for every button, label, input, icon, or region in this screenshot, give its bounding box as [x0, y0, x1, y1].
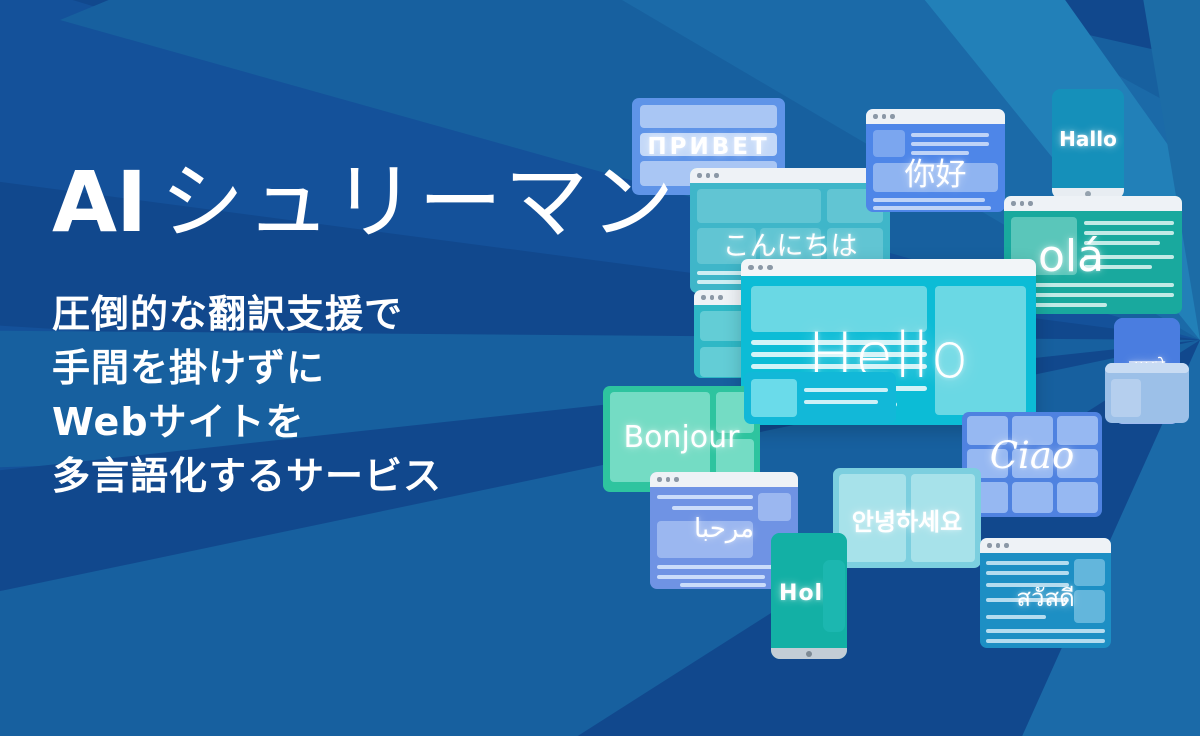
card-nihao: 你好 — [866, 109, 1005, 212]
tagline-line-1: 圧倒的な翻訳支援で — [52, 288, 672, 342]
window-dot-red-icon — [987, 543, 992, 548]
window-dot-green-icon — [890, 114, 895, 119]
window-dot-yellow-icon — [996, 543, 1001, 548]
window-dot-red-icon — [873, 114, 878, 119]
card-blank-tablet-right — [1105, 363, 1189, 423]
window-dot-red-icon — [701, 295, 706, 300]
card-annyeong: 안녕하세요 — [833, 468, 981, 568]
window-dot-yellow-icon — [882, 114, 887, 119]
window-dot-red-icon — [697, 173, 702, 178]
hero-tagline: 圧倒的な翻訳支援で 手間を掛けずに Webサイトを 多言語化するサービス — [52, 288, 672, 504]
window-dot-green-icon — [767, 265, 773, 271]
window-chrome-marhaba — [650, 472, 798, 487]
window-dot-green-icon — [718, 295, 723, 300]
card-blank-teal-strip — [823, 560, 845, 632]
hero-copy: AIシュリーマン 圧倒的な翻訳支援で 手間を掛けずに Webサイトを 多言語化す… — [52, 160, 672, 504]
window-chrome-sawasdee — [980, 538, 1111, 553]
window-chrome-konnichiwa — [690, 168, 890, 183]
card-blank-cyan-mid — [744, 372, 896, 424]
window-dot-green-icon — [714, 173, 719, 178]
page-title: AIシュリーマン — [52, 160, 672, 244]
window-dot-yellow-icon — [710, 295, 715, 300]
tagline-line-4: 多言語化するサービス — [52, 450, 672, 504]
tagline-line-2: 手間を掛けずに — [52, 342, 672, 396]
window-dot-yellow-icon — [706, 173, 711, 178]
card-hallo: Hallo — [1052, 89, 1124, 199]
window-dot-green-icon — [674, 477, 679, 482]
hero-banner: AIシュリーマン 圧倒的な翻訳支援で 手間を掛けずに Webサイトを 多言語化す… — [0, 0, 1200, 736]
brand-ai: AI — [52, 153, 160, 251]
brand-name: シュリーマン — [160, 153, 676, 251]
window-dot-yellow-icon — [1020, 201, 1025, 206]
window-dot-green-icon — [1004, 543, 1009, 548]
window-dot-red-icon — [1011, 201, 1016, 206]
window-chrome-hello — [741, 259, 1036, 276]
window-dot-green-icon — [1028, 201, 1033, 206]
window-dot-red-icon — [748, 265, 754, 271]
tagline-line-3: Webサイトを — [52, 396, 672, 450]
window-chrome-ola — [1004, 196, 1182, 211]
card-ciao: Ciao — [962, 412, 1102, 517]
card-sawasdee: สวัสดี — [980, 538, 1111, 648]
window-dot-yellow-icon — [758, 265, 764, 271]
window-chrome-nihao — [866, 109, 1005, 124]
phone-home-button-hola — [771, 648, 847, 659]
